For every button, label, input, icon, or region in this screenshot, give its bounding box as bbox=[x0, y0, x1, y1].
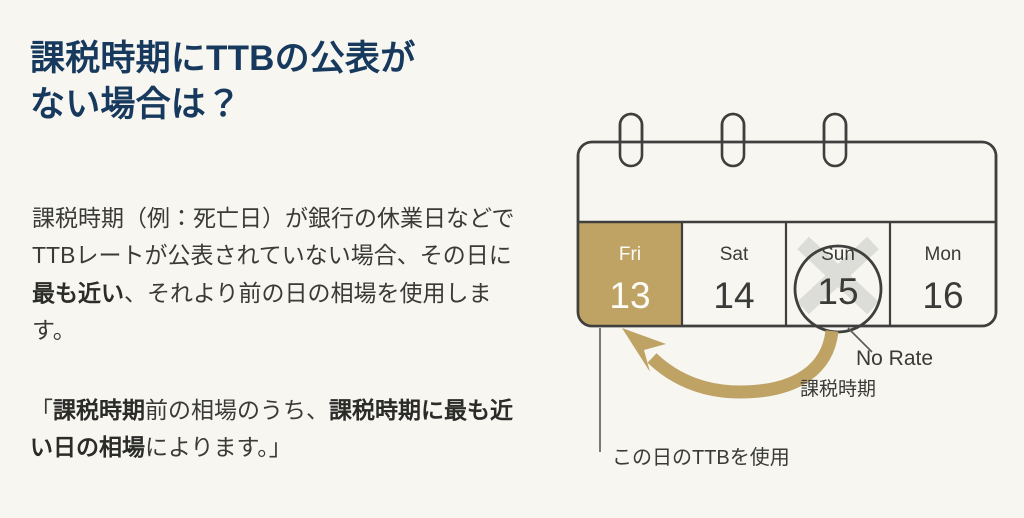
quote-paragraph: 「課税時期前の相場のうち、課税時期に最も近い日の相場によります。」 bbox=[30, 392, 522, 467]
calendar-weekday-sat: Sat bbox=[720, 244, 749, 265]
quote-close-bracket: 」 bbox=[269, 434, 292, 460]
taxable-period-label: 課税時期 bbox=[800, 378, 876, 400]
calendar-weekday-fri: Fri bbox=[619, 244, 641, 265]
quote-plain-1: 前の相場のうち、 bbox=[145, 397, 329, 423]
calendar-date-16: 16 bbox=[922, 275, 963, 316]
calendar-date-14: 14 bbox=[713, 275, 754, 316]
page-title: 課税時期にTTBの公表が ない場合は？ bbox=[30, 36, 530, 128]
body-paragraph-emphasis: 最も近い bbox=[32, 280, 124, 306]
body-paragraph-part1: 課税時期（例：死亡日）が銀行の休業日などでTTBレートが公表されていない場合、そ… bbox=[32, 205, 515, 268]
calendar-date-15: 15 bbox=[817, 271, 858, 312]
no-rate-label: No Rate bbox=[856, 347, 933, 370]
calendar-date-13: 13 bbox=[609, 275, 650, 316]
quote-open-bracket: 「 bbox=[30, 397, 53, 423]
slide-root: 課税時期にTTBの公表が ない場合は？ 課税時期（例：死亡日）が銀行の休業日など… bbox=[0, 0, 1024, 518]
body-paragraph: 課税時期（例：死亡日）が銀行の休業日などでTTBレートが公表されていない場合、そ… bbox=[32, 200, 522, 349]
quote-bold-1: 課税時期 bbox=[53, 397, 145, 423]
use-ttb-label: この日のTTBを使用 bbox=[612, 446, 790, 469]
calendar-weekday-mon: Mon bbox=[925, 244, 962, 265]
quote-plain-2: によります。 bbox=[145, 434, 269, 460]
text-column: 課税時期にTTBの公表が ない場合は？ bbox=[30, 36, 530, 128]
calendar-illustration: Fri 13 Sat 14 Sun 15 Mon 16 No Rate bbox=[560, 100, 1020, 490]
